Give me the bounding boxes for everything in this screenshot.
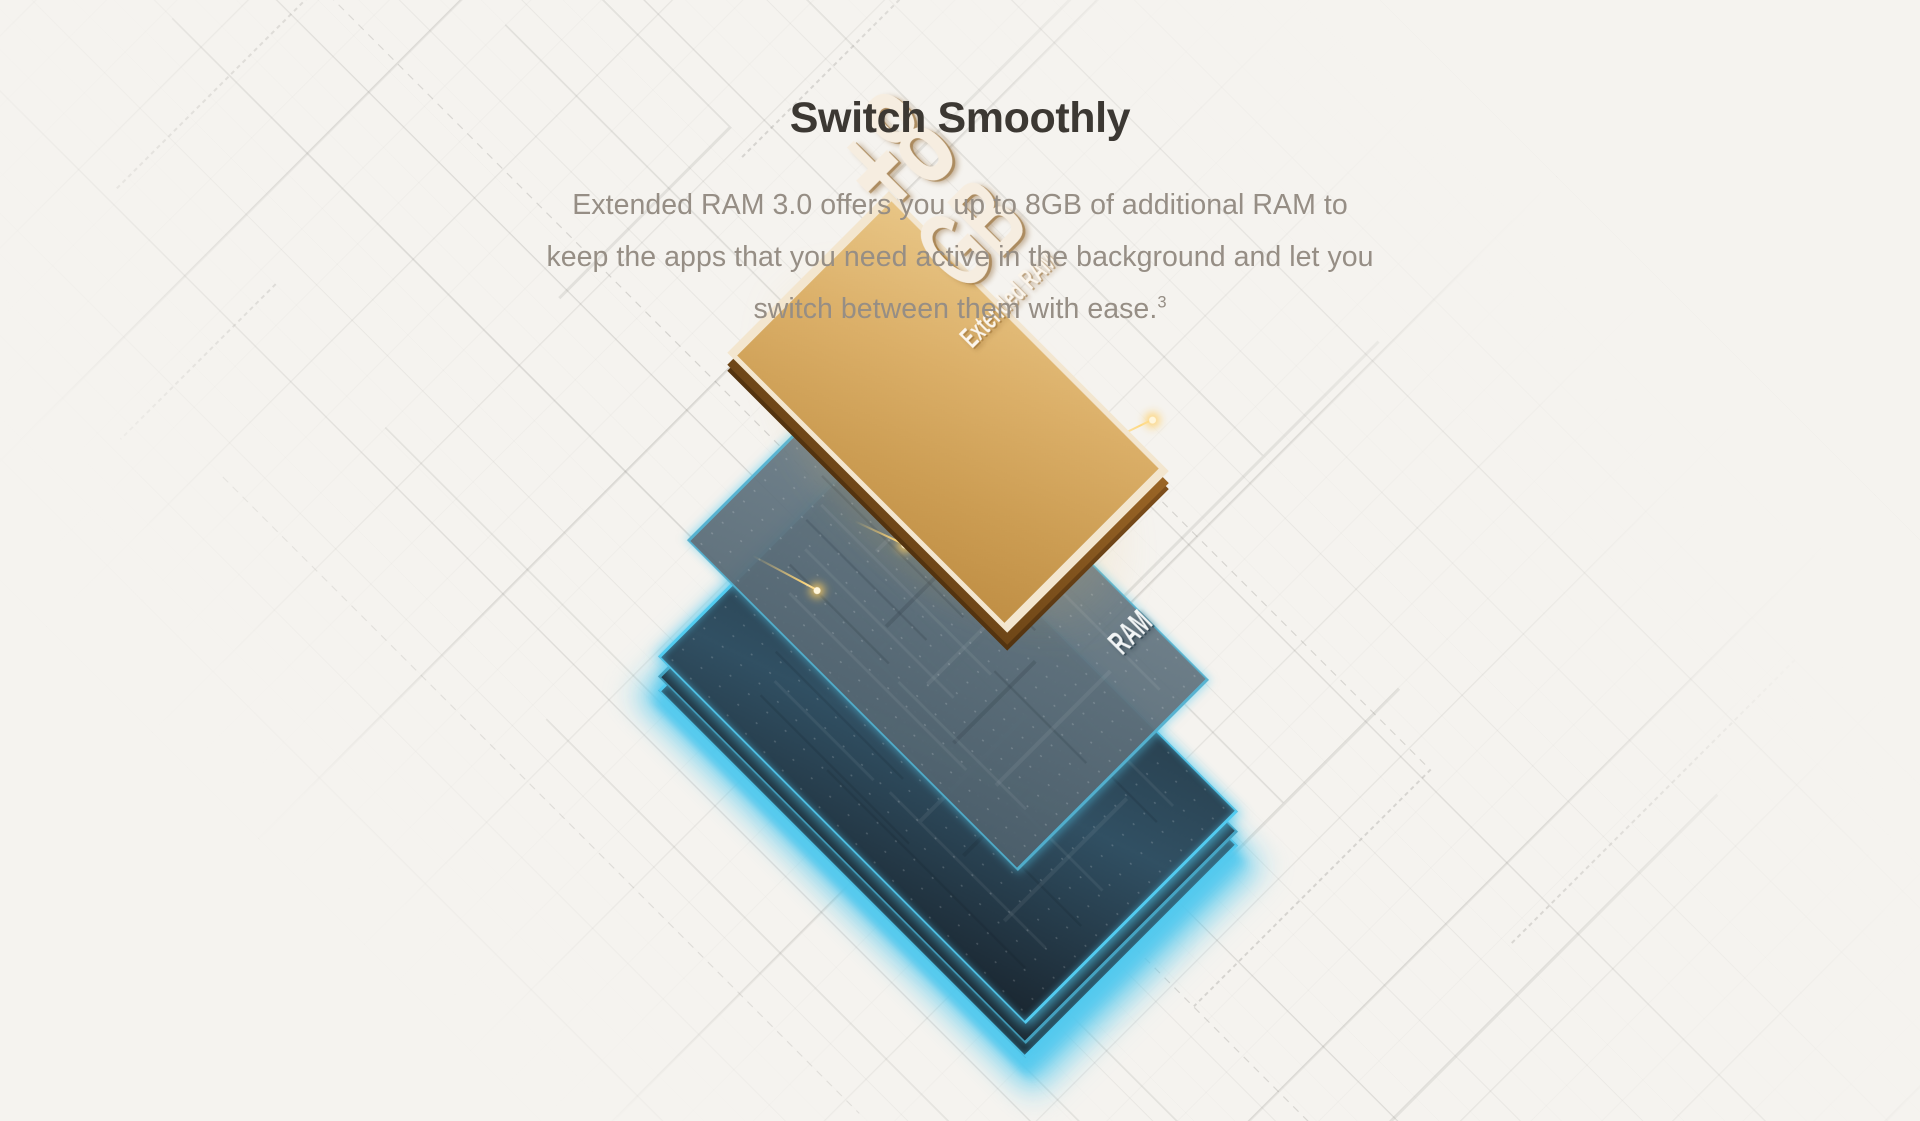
description-line-1: Extended RAM 3.0 offers you up to 8GB of…: [572, 189, 1347, 221]
hero-copy: Switch Smoothly Extended RAM 3.0 offers …: [0, 94, 1920, 335]
description-line-3: switch between them with ease.: [753, 293, 1157, 325]
page-title: Switch Smoothly: [0, 94, 1920, 143]
description-line-2: keep the apps that you need active in th…: [546, 241, 1373, 273]
footnote-marker: 3: [1157, 293, 1166, 312]
page-root: Switch Smoothly Extended RAM 3.0 offers …: [0, 0, 1920, 1121]
hero-description: Extended RAM 3.0 offers you up to 8GB of…: [0, 179, 1920, 335]
